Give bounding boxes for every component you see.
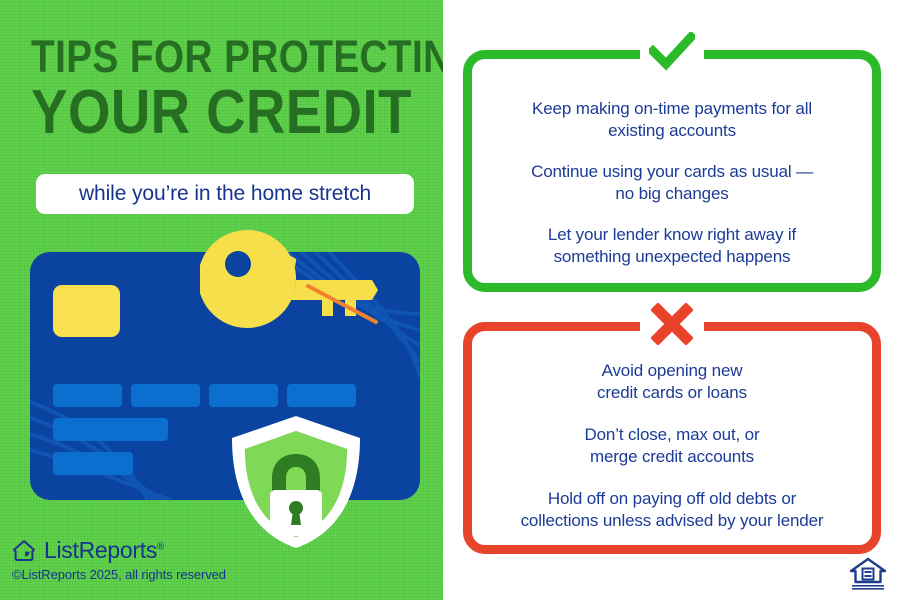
equal-housing-opportunity-icon	[848, 556, 888, 592]
title-line-2: YOUR CREDIT	[27, 82, 417, 144]
key-icon	[200, 224, 380, 354]
right-tips-panel: Keep making on-time payments for allexis…	[443, 0, 900, 600]
dont-tips-list: Avoid opening newcredit cards or loans D…	[463, 360, 881, 531]
card-number-group-4	[287, 384, 356, 407]
card-expiry-line	[53, 452, 133, 475]
brand-text: ListReports	[44, 537, 157, 563]
do-tip-1: Keep making on-time payments for allexis…	[532, 98, 812, 141]
dont-tip-3: Hold off on paying off old debts orcolle…	[521, 488, 824, 531]
do-tip-3: Let your lender know right away ifsometh…	[548, 224, 796, 267]
checkmark-icon	[649, 32, 695, 72]
x-mark-badge	[643, 300, 701, 348]
brand-row: ListReports®	[12, 537, 312, 564]
page-title: TIPS FOR PROTECTING YOUR CREDIT	[0, 34, 443, 144]
card-number-group-3	[209, 384, 278, 407]
subtitle-banner: while you’re in the home stretch	[36, 174, 414, 214]
credit-card-illustration	[30, 252, 420, 512]
left-hero-panel: TIPS FOR PROTECTING YOUR CREDIT while yo…	[0, 0, 443, 600]
dont-tip-2: Don’t close, max out, ormerge credit acc…	[585, 424, 760, 467]
do-tips-box: Keep making on-time payments for allexis…	[463, 50, 881, 292]
card-chip	[53, 285, 120, 337]
card-number-group-1	[53, 384, 122, 407]
copyright-text: ©ListReports 2025, all rights reserved	[12, 567, 312, 582]
footer-branding: ListReports® ©ListReports 2025, all righ…	[12, 537, 312, 582]
dont-tip-1: Avoid opening newcredit cards or loans	[597, 360, 747, 403]
card-name-line	[53, 418, 168, 441]
title-line-1: TIPS FOR PROTECTING	[31, 34, 412, 80]
do-tips-list: Keep making on-time payments for allexis…	[463, 98, 881, 267]
registered-mark: ®	[157, 541, 164, 552]
x-mark-icon	[651, 303, 693, 345]
dont-tips-box: Avoid opening newcredit cards or loans D…	[463, 322, 881, 554]
shield-with-padlock-icon	[226, 414, 366, 550]
infographic-canvas: TIPS FOR PROTECTING YOUR CREDIT while yo…	[0, 0, 900, 600]
subtitle-text: while you’re in the home stretch	[79, 182, 371, 206]
checkmark-badge	[643, 28, 701, 76]
card-number-group-2	[131, 384, 200, 407]
do-tip-2: Continue using your cards as usual —no b…	[531, 161, 813, 204]
house-outline-icon	[12, 539, 36, 563]
brand-name: ListReports®	[44, 537, 164, 564]
